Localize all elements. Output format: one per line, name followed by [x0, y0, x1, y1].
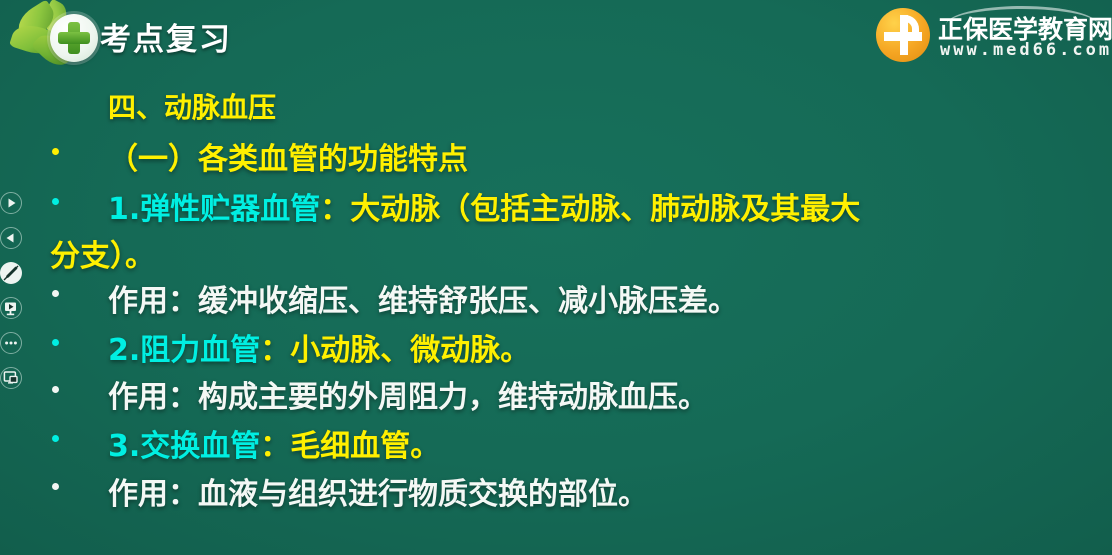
bullet-marker	[52, 148, 59, 155]
page-title: 考点复习	[100, 14, 232, 59]
bullet-marker	[52, 198, 59, 205]
text-segment-white: 作用：缓冲收缩压、维持舒张压、减小脉压差。	[108, 284, 738, 319]
logo-website-url: www.med66.com	[940, 40, 1112, 60]
text-segment-white: 作用：血液与组织进行物质交换的部位。	[108, 477, 648, 512]
green-cross-icon	[50, 14, 98, 62]
slide-line: 1.弹性贮器血管：大动脉（包括主动脉、肺动脉及其最大	[0, 184, 1112, 226]
text-segment-cyan: 1.弹性贮器血管	[108, 192, 320, 227]
text-segment-yellow: （一）各类血管的功能特点	[108, 142, 468, 177]
slide-line: 2.阻力血管：小动脉、微动脉。	[0, 325, 1112, 367]
site-logo[interactable]: 正保医学教育网 www.med66.com	[876, 4, 1104, 66]
slide-line-text: 作用：血液与组织进行物质交换的部位。	[108, 469, 648, 513]
slide-line-text: 作用：构成主要的外周阻力，维持动脉血压。	[108, 372, 708, 416]
slide-line: 分支）。	[0, 231, 1112, 273]
orange-circle-cross-logo-icon	[876, 8, 930, 62]
slide-header: 考点复习 正保医学教育网 www.med66.com	[0, 0, 1112, 72]
text-segment-cyan: 2.阻力血管	[108, 333, 260, 368]
slide-canvas: 考点复习 正保医学教育网 www.med66.com	[0, 0, 1112, 555]
slide-line: 3.交换血管：毛细血管。	[0, 421, 1112, 463]
bullet-marker	[52, 483, 59, 490]
text-segment-yellow: ：毛细血管。	[260, 429, 440, 464]
slide-line: 作用：缓冲收缩压、维持舒张压、减小脉压差。	[0, 276, 1112, 318]
slide-line-text: 四、动脉血压	[108, 86, 276, 126]
text-segment-yellow: ：小动脉、微动脉。	[260, 333, 530, 368]
bullet-marker	[52, 386, 59, 393]
slide-line: 作用：血液与组织进行物质交换的部位。	[0, 469, 1112, 511]
slide-line-text: 2.阻力血管：小动脉、微动脉。	[108, 325, 530, 369]
text-segment-yellow: 分支）。	[50, 239, 155, 274]
slide-line-text: 作用：缓冲收缩压、维持舒张压、减小脉压差。	[108, 276, 738, 320]
bullet-marker	[52, 339, 59, 346]
slide-line: （一）各类血管的功能特点	[0, 134, 1112, 176]
text-segment-yellow: ：大动脉（包括主动脉、肺动脉及其最大	[320, 192, 860, 227]
slide-line: 四、动脉血压	[0, 86, 1112, 126]
text-segment-white: 作用：构成主要的外周阻力，维持动脉血压。	[108, 380, 708, 415]
bullet-marker	[52, 290, 59, 297]
text-segment-cyan: 3.交换血管	[108, 429, 260, 464]
leaf-medical-cross-icon	[12, 4, 104, 68]
slide-line-text: 1.弹性贮器血管：大动脉（包括主动脉、肺动脉及其最大	[108, 184, 860, 228]
slide-line: 作用：构成主要的外周阻力，维持动脉血压。	[0, 372, 1112, 414]
text-segment-yellow: 四、动脉血压	[108, 91, 276, 124]
slide-line-text: 3.交换血管：毛细血管。	[108, 421, 440, 465]
slide-line-text: 分支）。	[50, 231, 155, 275]
bullet-marker	[52, 435, 59, 442]
slide-line-text: （一）各类血管的功能特点	[108, 134, 468, 178]
